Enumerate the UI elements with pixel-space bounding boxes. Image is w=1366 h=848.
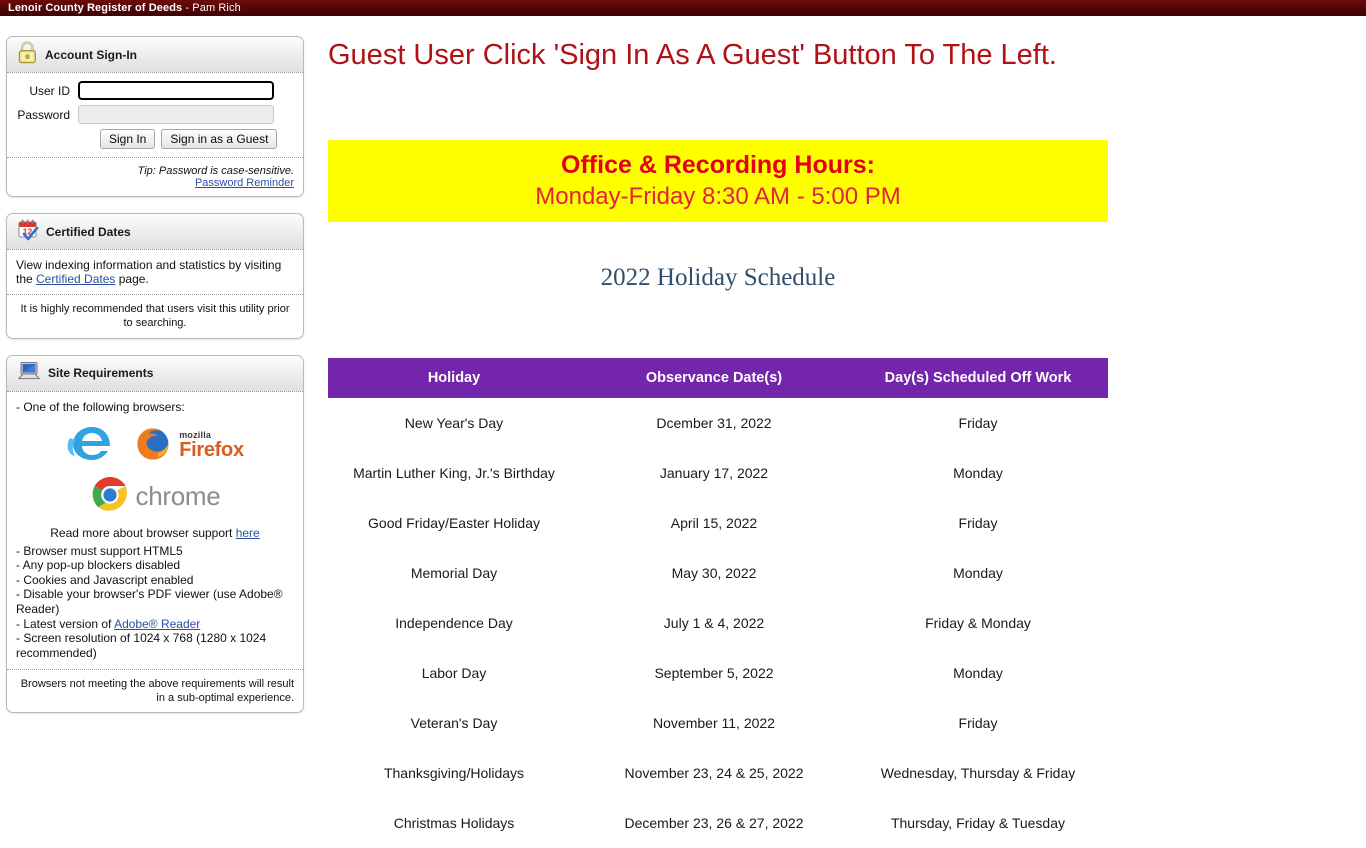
- requirement-item-adobe: - Latest version of Adobe® Reader: [16, 617, 294, 632]
- table-row: Independence DayJuly 1 & 4, 2022Friday &…: [328, 598, 1108, 648]
- firefox-wordmark: mozilla Firefox: [179, 428, 244, 460]
- certified-dates-text-suffix: page.: [115, 272, 148, 286]
- page-headline: Guest User Click 'Sign In As A Guest' Bu…: [328, 40, 1358, 72]
- holiday-schedule-title: 2022 Holiday Schedule: [328, 264, 1108, 292]
- table-header-row: Holiday Observance Date(s) Day(s) Schedu…: [328, 358, 1108, 398]
- adobe-prefix: - Latest version of: [16, 617, 114, 631]
- table-row: Thanksgiving/HolidaysNovember 23, 24 & 2…: [328, 748, 1108, 798]
- cell-observance-date: November 11, 2022: [580, 698, 848, 748]
- cell-holiday: Labor Day: [328, 648, 580, 698]
- chrome-logo: [90, 475, 130, 518]
- account-signin-header: Account Sign-In: [7, 37, 303, 73]
- password-tip: Tip: Password is case-sensitive.: [16, 165, 294, 177]
- cell-holiday: Thanksgiving/Holidays: [328, 748, 580, 798]
- laptop-icon: [17, 360, 41, 387]
- office-hours-banner: Office & Recording Hours: Monday-Friday …: [328, 140, 1108, 222]
- cell-days-off: Monday: [848, 648, 1108, 698]
- sidebar: Account Sign-In User ID Password Sign In…: [6, 36, 304, 729]
- requirement-item: - Any pop-up blockers disabled: [16, 558, 294, 573]
- cell-observance-date: April 15, 2022: [580, 498, 848, 548]
- site-requirements-header: Site Requirements: [7, 356, 303, 392]
- table-row: Veteran's DayNovember 11, 2022Friday: [328, 698, 1108, 748]
- table-row: Labor DaySeptember 5, 2022Monday: [328, 648, 1108, 698]
- cell-days-off: Friday: [848, 398, 1108, 448]
- password-reminder-link[interactable]: Password Reminder: [195, 177, 294, 189]
- padlock-icon: [17, 41, 38, 69]
- account-signin-title: Account Sign-In: [45, 48, 137, 62]
- browser-support-text: Read more about browser support: [50, 526, 235, 540]
- signin-button-row: Sign In Sign in as a Guest: [16, 129, 294, 149]
- certified-dates-title: Certified Dates: [46, 225, 131, 239]
- table-row: Martin Luther King, Jr.'s BirthdayJanuar…: [328, 448, 1108, 498]
- cell-holiday: Independence Day: [328, 598, 580, 648]
- table-row: Good Friday/Easter HolidayApril 15, 2022…: [328, 498, 1108, 548]
- certified-dates-body: View indexing information and statistics…: [7, 250, 303, 294]
- browsers-intro: - One of the following browsers:: [16, 400, 294, 414]
- table-row: New Year's DayDcember 31, 2022Friday: [328, 398, 1108, 448]
- browser-support-here-link[interactable]: here: [236, 526, 260, 540]
- userid-input[interactable]: [78, 81, 274, 100]
- site-title-bar: Lenoir County Register of Deeds - Pam Ri…: [0, 0, 1366, 16]
- holiday-schedule-table: Holiday Observance Date(s) Day(s) Schedu…: [328, 358, 1108, 848]
- account-signin-footer: Tip: Password is case-sensitive. Passwor…: [7, 157, 303, 196]
- browser-logo-row-1: mozilla Firefox: [16, 420, 294, 469]
- site-requirements-title: Site Requirements: [48, 366, 153, 380]
- cell-observance-date: July 1 & 4, 2022: [580, 598, 848, 648]
- requirement-item: - Disable your browser's PDF viewer (use…: [16, 587, 294, 616]
- password-row: Password: [16, 105, 294, 124]
- table-row: Memorial DayMay 30, 2022Monday: [328, 548, 1108, 598]
- cell-days-off: Thursday, Friday & Tuesday: [848, 798, 1108, 848]
- site-requirements-footer: Browsers not meeting the above requireme…: [7, 669, 303, 713]
- requirement-item: - Browser must support HTML5: [16, 544, 294, 559]
- cell-holiday: Christmas Holidays: [328, 798, 580, 848]
- table-row: Christmas HolidaysDecember 23, 26 & 27, …: [328, 798, 1108, 848]
- official-name: - Pam Rich: [182, 2, 241, 14]
- internet-explorer-logo: [66, 420, 118, 469]
- calendar-icon: 12: [17, 218, 39, 246]
- cell-days-off: Friday & Monday: [848, 598, 1108, 648]
- certified-dates-panel: 12 Certified Dates View indexing informa…: [6, 213, 304, 339]
- cell-holiday: Veteran's Day: [328, 698, 580, 748]
- sign-in-button[interactable]: Sign In: [100, 129, 155, 149]
- cell-days-off: Wednesday, Thursday & Friday: [848, 748, 1108, 798]
- requirement-item-resolution: - Screen resolution of 1024 x 768 (1280 …: [16, 631, 294, 660]
- cell-observance-date: May 30, 2022: [580, 548, 848, 598]
- office-hours-title: Office & Recording Hours:: [328, 150, 1108, 181]
- cell-days-off: Friday: [848, 698, 1108, 748]
- certified-dates-link[interactable]: Certified Dates: [36, 272, 115, 286]
- cell-days-off: Monday: [848, 548, 1108, 598]
- cell-holiday: Martin Luther King, Jr.'s Birthday: [328, 448, 580, 498]
- office-hours-detail: Monday-Friday 8:30 AM - 5:00 PM: [328, 181, 1108, 212]
- main-content: Guest User Click 'Sign In As A Guest' Bu…: [328, 36, 1358, 72]
- cell-holiday: Memorial Day: [328, 548, 580, 598]
- cell-days-off: Friday: [848, 498, 1108, 548]
- browser-support-line: Read more about browser support here: [16, 526, 294, 540]
- account-signin-panel: Account Sign-In User ID Password Sign In…: [6, 36, 304, 197]
- column-header-holiday: Holiday: [328, 358, 580, 398]
- site-requirements-body: - One of the following browsers:: [7, 392, 303, 669]
- holiday-rows: New Year's DayDcember 31, 2022FridayMart…: [328, 398, 1108, 848]
- userid-label: User ID: [16, 84, 78, 98]
- column-header-observance-date: Observance Date(s): [580, 358, 848, 398]
- browser-logo-row-2: chrome: [16, 475, 294, 518]
- requirement-item: - Cookies and Javascript enabled: [16, 573, 294, 588]
- password-label: Password: [16, 108, 78, 122]
- certified-dates-footer: It is highly recommended that users visi…: [7, 294, 303, 338]
- account-signin-body: User ID Password Sign In Sign in as a Gu…: [7, 73, 303, 157]
- site-requirements-panel: Site Requirements - One of the following…: [6, 355, 304, 714]
- requirements-list: - Browser must support HTML5 - Any pop-u…: [16, 544, 294, 661]
- password-input[interactable]: [78, 105, 274, 124]
- firefox-label: Firefox: [179, 439, 244, 461]
- adobe-reader-link[interactable]: Adobe® Reader: [114, 617, 200, 631]
- cell-holiday: New Year's Day: [328, 398, 580, 448]
- userid-row: User ID: [16, 81, 294, 100]
- site-requirements-note: Browsers not meeting the above requireme…: [16, 677, 294, 706]
- sign-in-as-guest-button[interactable]: Sign in as a Guest: [161, 129, 277, 149]
- cell-observance-date: Dcember 31, 2022: [580, 398, 848, 448]
- column-header-days-off: Day(s) Scheduled Off Work: [848, 358, 1108, 398]
- certified-dates-note: It is highly recommended that users visi…: [16, 302, 294, 331]
- cell-observance-date: December 23, 26 & 27, 2022: [580, 798, 848, 848]
- firefox-logo: mozilla Firefox: [132, 423, 244, 465]
- cell-days-off: Monday: [848, 448, 1108, 498]
- certified-dates-header: 12 Certified Dates: [7, 214, 303, 250]
- chrome-wordmark: chrome: [136, 481, 221, 512]
- cell-observance-date: November 23, 24 & 25, 2022: [580, 748, 848, 798]
- cell-observance-date: September 5, 2022: [580, 648, 848, 698]
- cell-observance-date: January 17, 2022: [580, 448, 848, 498]
- browser-logo-group: mozilla Firefox: [16, 414, 294, 520]
- cell-holiday: Good Friday/Easter Holiday: [328, 498, 580, 548]
- office-name: Lenoir County Register of Deeds: [8, 2, 182, 14]
